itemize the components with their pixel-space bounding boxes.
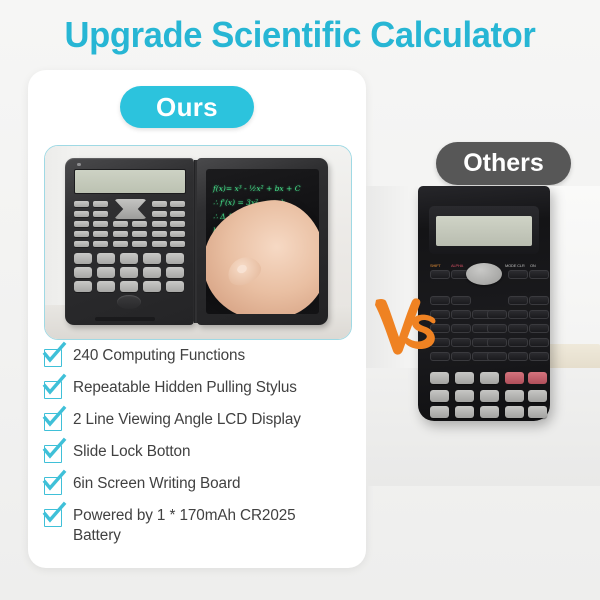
feature-item: Powered by 1 * 170mAh CR2025 Battery	[44, 506, 352, 546]
foldable-calculator-keypad-half	[65, 158, 194, 325]
others-function-key	[529, 296, 549, 305]
calc-key	[170, 211, 185, 217]
calc-key	[170, 231, 185, 237]
others-key-del	[505, 372, 524, 384]
calc-key	[74, 267, 92, 278]
others-key-mplus	[529, 352, 549, 361]
feature-label: 6in Screen Writing Board	[73, 474, 240, 494]
ours-card: Ours	[28, 70, 366, 568]
calc-key	[120, 281, 138, 292]
checkmark-icon	[44, 445, 62, 463]
others-function-key	[430, 324, 450, 333]
others-key-1	[430, 406, 449, 418]
others-function-key	[508, 296, 528, 305]
others-key-3	[480, 406, 499, 418]
calc-key	[152, 241, 167, 247]
calc-key	[74, 281, 92, 292]
others-key-label-mode: MODE CLR	[505, 263, 525, 268]
calc-key	[166, 281, 184, 292]
calc-key	[74, 211, 89, 217]
others-key-sd	[508, 352, 528, 361]
calc-key	[74, 241, 89, 247]
calc-key	[93, 211, 108, 217]
feature-label: Slide Lock Botton	[73, 442, 190, 462]
checkmark-icon	[44, 381, 62, 399]
feature-item: 240 Computing Functions	[44, 346, 352, 367]
calc-key	[120, 253, 138, 264]
page-title: Upgrade Scientific Calculator	[12, 14, 588, 56]
calc-key	[113, 231, 128, 237]
checkmark-icon	[44, 349, 62, 367]
feature-label: 2 Line Viewing Angle LCD Display	[73, 410, 301, 430]
calc-key	[74, 201, 89, 207]
others-function-key	[529, 338, 549, 347]
calc-key	[143, 281, 161, 292]
others-function-key	[430, 296, 450, 305]
calc-key	[97, 253, 115, 264]
calc-key	[93, 231, 108, 237]
calculator-indicator-dot	[77, 163, 81, 166]
others-key-divide	[528, 390, 547, 402]
calc-key	[74, 253, 92, 264]
others-key-2	[455, 406, 474, 418]
calc-key	[120, 267, 138, 278]
feature-label: Repeatable Hidden Pulling Stylus	[73, 378, 297, 398]
others-key-6	[480, 390, 499, 402]
calc-key	[93, 221, 108, 227]
feature-label: Powered by 1 * 170mAh CR2025 Battery	[73, 506, 319, 546]
calc-key	[132, 231, 147, 237]
ours-badge: Ours	[120, 86, 254, 128]
others-badge: Others	[436, 142, 571, 185]
feature-item: Repeatable Hidden Pulling Stylus	[44, 378, 352, 399]
calc-key	[132, 241, 147, 247]
calculator-dpad	[114, 199, 147, 219]
others-navigation-pad	[466, 263, 502, 285]
others-function-key	[451, 338, 471, 347]
handwriting-line: f(x)= x³ - ½x² + bx + C	[213, 183, 300, 195]
feature-list: 240 Computing Functions Repeatable Hidde…	[44, 346, 352, 557]
others-key-mode	[508, 270, 528, 279]
others-key-4	[430, 390, 449, 402]
checkmark-icon	[44, 509, 62, 527]
others-function-key	[487, 310, 507, 319]
others-key-9	[480, 372, 499, 384]
others-function-key	[487, 324, 507, 333]
calc-key	[74, 231, 89, 237]
calc-key	[170, 201, 185, 207]
calc-key	[143, 253, 161, 264]
feature-item: 2 Line Viewing Angle LCD Display	[44, 410, 352, 431]
others-key-eng	[451, 352, 471, 361]
calc-key	[132, 221, 147, 227]
calc-key	[93, 201, 108, 207]
others-key-multiply	[505, 390, 524, 402]
feature-item: Slide Lock Botton	[44, 442, 352, 463]
others-function-key	[451, 296, 471, 305]
feature-item: 6in Screen Writing Board	[44, 474, 352, 495]
others-product-photo: SHIFT ALPHA MODE CLR ON	[366, 186, 600, 486]
others-key-shift	[430, 270, 450, 279]
others-key-plus	[505, 406, 524, 418]
others-badge-label: Others	[463, 149, 544, 178]
writing-tablet-screen: f(x)= x³ - ½x² + bx + C ∴ f'(x) = 3x² - …	[206, 169, 319, 314]
calculator-stylus-slot	[95, 317, 155, 321]
others-key-label-shift: SHIFT	[430, 263, 441, 268]
calculator-lock-button	[117, 295, 141, 309]
others-key-label-alpha: ALPHA	[451, 263, 463, 268]
calc-key	[152, 221, 167, 227]
others-calculator-body: SHIFT ALPHA MODE CLR ON	[418, 186, 550, 421]
calc-key	[166, 267, 184, 278]
others-function-key	[508, 324, 528, 333]
others-key-rcl	[430, 352, 450, 361]
others-key-8	[455, 372, 474, 384]
checkmark-icon	[44, 413, 62, 431]
ours-badge-label: Ours	[156, 92, 218, 123]
others-function-key	[508, 338, 528, 347]
calc-key	[113, 221, 128, 227]
others-key-minus	[528, 406, 547, 418]
others-lcd-screen	[436, 216, 532, 246]
photo-scene: f(x)= x³ - ½x² + bx + C ∴ f'(x) = 3x² - …	[45, 146, 351, 339]
calc-key	[97, 281, 115, 292]
calc-key	[113, 241, 128, 247]
calc-key	[170, 241, 185, 247]
others-key-5	[455, 390, 474, 402]
others-function-key	[451, 310, 471, 319]
others-function-key	[430, 338, 450, 347]
calc-key	[152, 231, 167, 237]
others-key-7	[430, 372, 449, 384]
calculator-lcd-screen	[74, 169, 186, 194]
infographic-root: Upgrade Scientific Calculator Ours	[0, 0, 600, 600]
ours-product-photo: f(x)= x³ - ½x² + bx + C ∴ f'(x) = 3x² - …	[44, 145, 352, 340]
others-key-label-on: ON	[530, 263, 536, 268]
others-key-ac	[528, 372, 547, 384]
feature-label: 240 Computing Functions	[73, 346, 245, 366]
calc-key	[152, 201, 167, 207]
others-lcd-bezel	[429, 206, 539, 254]
others-key-paren-close	[487, 352, 507, 361]
writing-tablet-half: f(x)= x³ - ½x² + bx + C ∴ f'(x) = 3x² - …	[197, 158, 328, 325]
others-function-key	[508, 310, 528, 319]
calculator-keypad	[72, 199, 187, 297]
others-function-key	[430, 310, 450, 319]
calc-key	[74, 221, 89, 227]
calc-key	[93, 241, 108, 247]
others-key-on	[529, 270, 549, 279]
calc-key	[166, 253, 184, 264]
others-function-key	[451, 324, 471, 333]
others-function-key	[529, 310, 549, 319]
calc-key	[143, 267, 161, 278]
calc-key	[97, 267, 115, 278]
calc-key	[152, 211, 167, 217]
others-function-key	[487, 338, 507, 347]
others-function-key	[529, 324, 549, 333]
calc-key	[170, 221, 185, 227]
checkmark-icon	[44, 477, 62, 495]
